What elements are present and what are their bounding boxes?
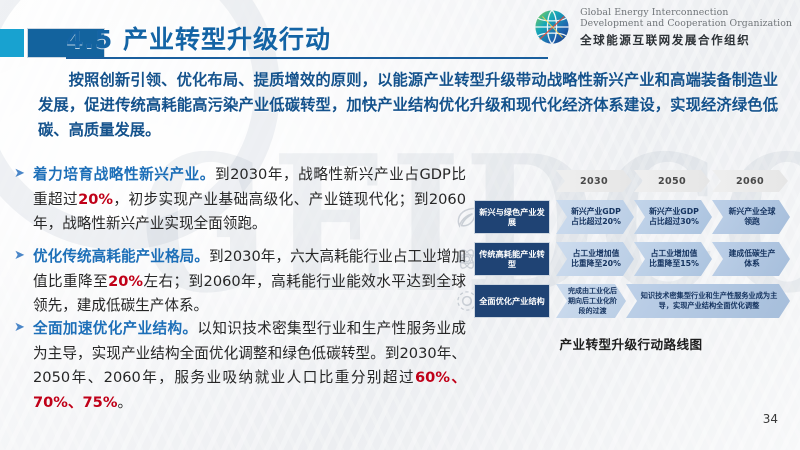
bullet-text-2: 优化传统高耗能产业格局。到2030年，六大高耗能行业占工业增加值比重降至20%左…: [33, 245, 466, 319]
year-chip-2030: 2030: [556, 170, 632, 192]
roadmap-cell-1-2030: 新兴产业GDP占比超过20%: [556, 200, 634, 234]
logo-text-block: Global Energy Interconnection Developmen…: [580, 7, 792, 48]
organization-logo: Global Energy Interconnection Developmen…: [531, 6, 792, 48]
bullet-arrow-icon: ➤: [14, 166, 25, 181]
bullet-lead-1: 着力培育战略性新兴产业。: [33, 166, 215, 183]
header-divider: [66, 57, 548, 59]
bullet-item-3: ➤ 全面加速优化产业结构。以知识技术密集型行业和生产性服务业成为主导，实现产业结…: [14, 317, 466, 415]
bullet-arrow-icon: ➤: [14, 320, 25, 335]
roadmap-row-label-2: 传统高耗能产业转型: [474, 242, 550, 276]
bullet-lead-2: 优化传统高耗能产业格局。: [33, 248, 209, 265]
header-accent-square-cyan: [0, 29, 24, 57]
roadmap-cell-1-2050: 新兴产业GDP占比超过30%: [634, 200, 712, 234]
year-chip-2060: 2060: [712, 170, 788, 192]
bullet-highlight-2: 20%: [108, 273, 143, 290]
roadmap-cell-2-2050: 占工业增加值比重降至15%: [634, 242, 712, 276]
bullet-text-1: 着力培育战略性新兴产业。到2030年，战略性新兴产业占GDP比重超过20%，初步…: [33, 163, 466, 237]
page-title: 4.5 产业转型升级行动: [66, 20, 331, 56]
roadmap-row-label-1: 新兴与绿色产业发展: [474, 200, 550, 234]
bullet-text-3: 全面加速优化产业结构。以知识技术密集型行业和生产性服务业成为主导，实现产业结构全…: [33, 317, 466, 415]
bullet-lead-3: 全面加速优化产业结构。: [33, 320, 197, 337]
logo-en-line1: Global Energy Interconnection: [580, 7, 792, 19]
slide-canvas: GEIDCO 4.5 产业转型升级行动: [0, 0, 800, 450]
roadmap-cell-2-2060: 建成低碳生产体系: [712, 242, 790, 276]
bullet-item-2: ➤ 优化传统高耗能产业格局。到2030年，六大高耗能行业占工业增加值比重降至20…: [14, 245, 466, 319]
roadmap-cell-2-2030: 占工业增加值比重降至20%: [556, 242, 634, 276]
logo-cn-name: 全球能源互联网发展合作组织: [580, 32, 792, 48]
roadmap-cell-1-2060: 新兴产业全球领跑: [712, 200, 790, 234]
roadmap-year-header: 2030 2050 2060: [556, 170, 792, 192]
globe-network-icon: [531, 6, 573, 48]
year-chip-2050: 2050: [634, 170, 710, 192]
roadmap-caption: 产业转型升级行动路线图: [470, 334, 792, 353]
roadmap-row-emerging-green: 新兴与绿色产业发展 新兴产业GDP占比超过20% 新兴产业GDP占比超过30% …: [470, 200, 792, 234]
page-number: 34: [763, 412, 778, 426]
roadmap-cell-3-2030: 完成由工业化后期向后工业化阶段的过渡: [556, 284, 626, 318]
bullet-body-3b: 。: [117, 394, 132, 411]
bullet-arrow-icon: ➤: [14, 248, 25, 263]
roadmap-diagram: 2030 2050 2060 新兴与绿色产业发展 新兴产业GDP占比超过20% …: [470, 170, 792, 353]
roadmap-cell-3-2050-2060: 知识技术密集型行业和生产性服务业成为主导，实现产业结构全面优化调整: [626, 284, 790, 318]
roadmap-row-traditional-transform: 传统高耗能产业转型 占工业增加值比重降至20% 占工业增加值比重降至15% 建成…: [470, 242, 792, 276]
logo-en-line2: Development and Cooperation Organization: [580, 18, 792, 30]
intro-paragraph: 按照创新引领、优化布局、提质增效的原则，以能源产业转型升级带动战略性新兴产业和高…: [38, 68, 778, 143]
bullet-item-1: ➤ 着力培育战略性新兴产业。到2030年，战略性新兴产业占GDP比重超过20%，…: [14, 163, 466, 237]
roadmap-row-label-3: 全面优化产业结构: [474, 284, 550, 318]
roadmap-row-structure-optimize: 全面优化产业结构 完成由工业化后期向后工业化阶段的过渡 知识技术密集型行业和生产…: [470, 284, 792, 318]
bullet-highlight-1: 20%: [78, 191, 113, 208]
